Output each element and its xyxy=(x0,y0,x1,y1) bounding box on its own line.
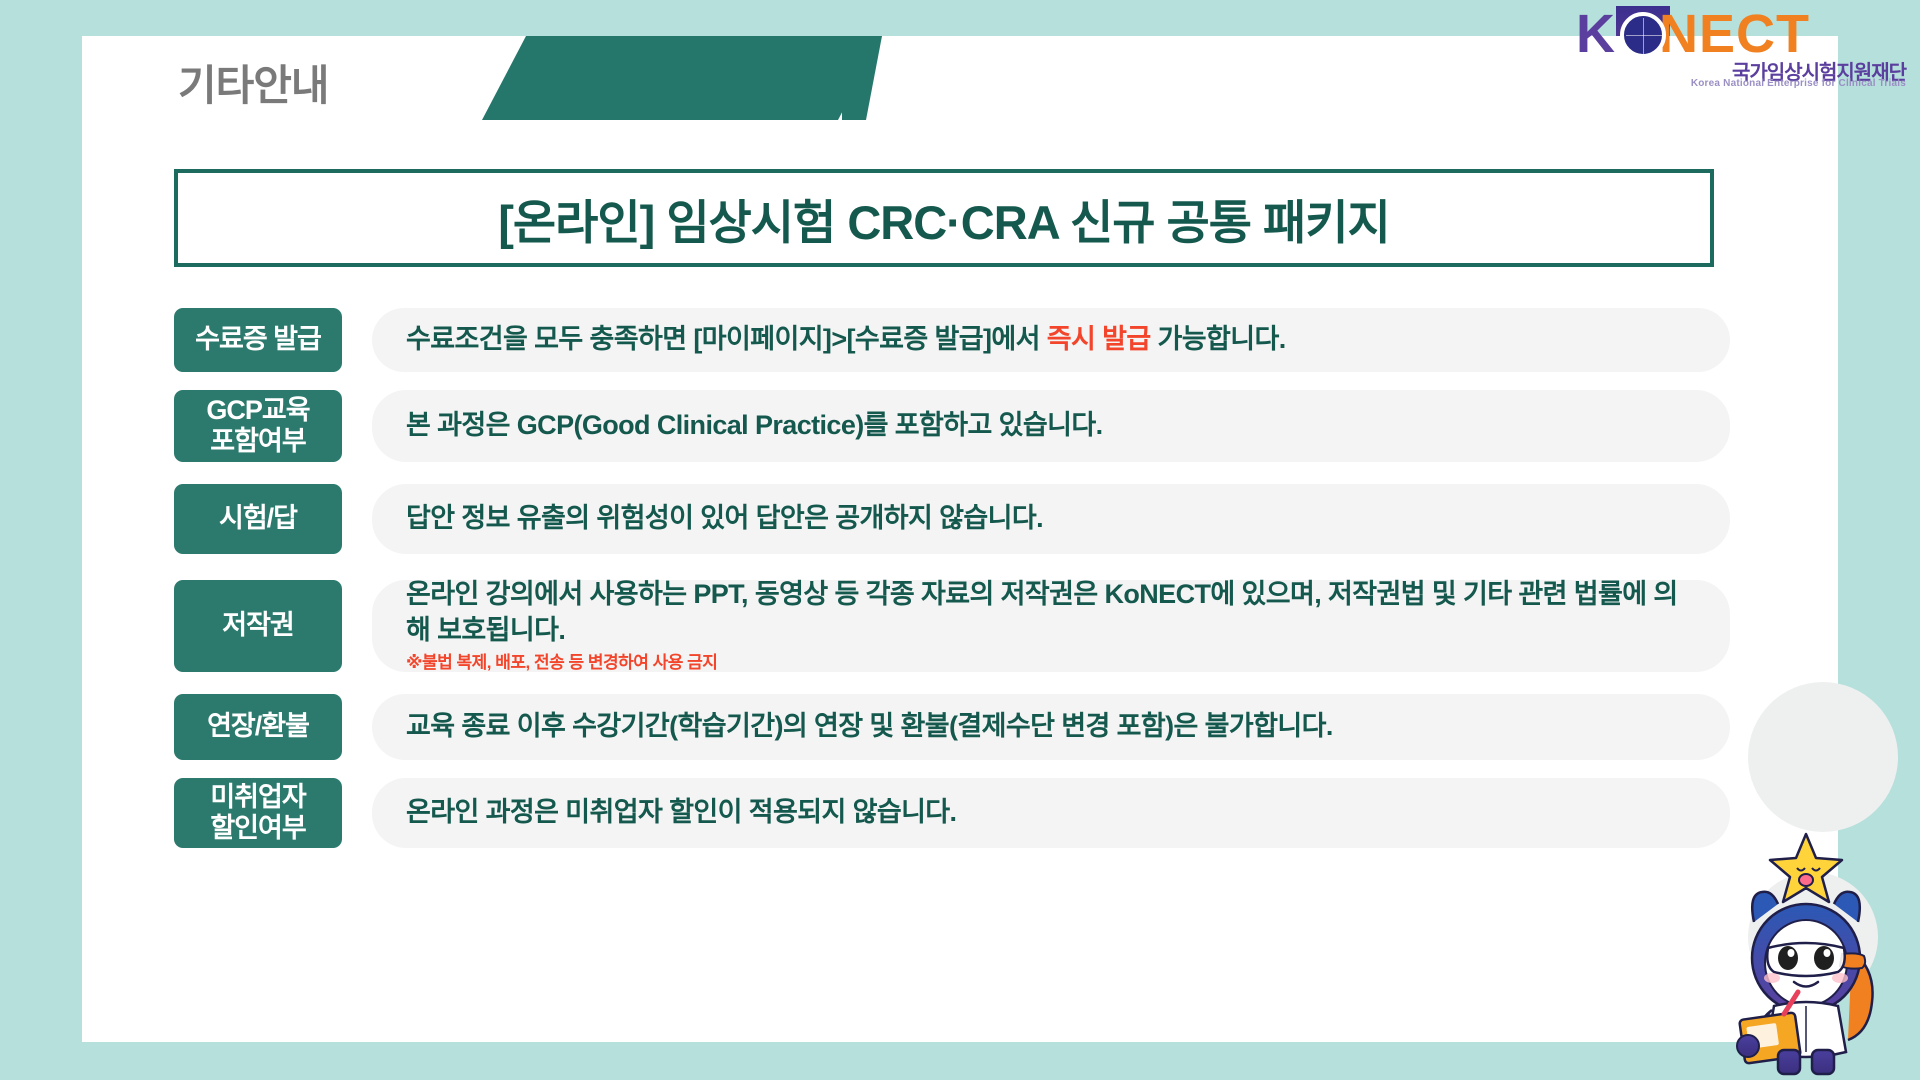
row-content-discount: 온라인 과정은 미취업자 할인이 적용되지 않습니다. xyxy=(372,778,1730,848)
row-label-discount: 미취업자 할인여부 xyxy=(174,778,342,848)
logo-wordmark: KONECT xyxy=(1576,6,1810,62)
row-content-copyright: 온라인 강의에서 사용하는 PPT, 동영상 등 각종 자료의 저작권은 KoN… xyxy=(372,580,1730,672)
row-text: 온라인 강의에서 사용하는 PPT, 동영상 등 각종 자료의 저작권은 KoN… xyxy=(406,577,1696,648)
row-content-certificate: 수료조건을 모두 충족하면 [마이페이지]>[수료증 발급]에서 즉시 발급 가… xyxy=(372,308,1730,372)
page-title: [온라인] 임상시험 CRC·CRA 신규 공통 패키지 xyxy=(498,184,1390,253)
info-table: 수료증 발급 수료조건을 모두 충족하면 [마이페이지]>[수료증 발급]에서 … xyxy=(174,308,1730,866)
table-row: 시험/답 답안 정보 유출의 위험성이 있어 답안은 공개하지 않습니다. xyxy=(174,484,1730,554)
row-text: 답안 정보 유출의 위험성이 있어 답안은 공개하지 않습니다. xyxy=(406,501,1696,537)
table-row: 미취업자 할인여부 온라인 과정은 미취업자 할인이 적용되지 않습니다. xyxy=(174,778,1730,848)
konect-logo: KONECT 국가임상시험지원재단 Korea National Enterpr… xyxy=(1576,6,1906,92)
content-card: 기타안내 [온라인] 임상시험 CRC·CRA 신규 공통 패키지 수료증 발급… xyxy=(82,36,1838,1042)
row-label-copyright: 저작권 xyxy=(174,580,342,672)
page-title-box: [온라인] 임상시험 CRC·CRA 신규 공통 패키지 xyxy=(174,169,1714,267)
row-label-exam: 시험/답 xyxy=(174,484,342,554)
table-row: 저작권 온라인 강의에서 사용하는 PPT, 동영상 등 각종 자료의 저작권은… xyxy=(174,580,1730,672)
row-label-refund: 연장/환불 xyxy=(174,694,342,760)
row-label-certificate: 수료증 발급 xyxy=(174,308,342,372)
table-row: GCP교육 포함여부 본 과정은 GCP(Good Clinical Pract… xyxy=(174,390,1730,462)
ribbon-tail xyxy=(842,36,882,120)
row-content-gcp: 본 과정은 GCP(Good Clinical Practice)를 포함하고 … xyxy=(372,390,1730,462)
row-text: 본 과정은 GCP(Good Clinical Practice)를 포함하고 … xyxy=(406,408,1696,444)
table-row: 연장/환불 교육 종료 이후 수강기간(학습기간)의 연장 및 환불(결제수단 … xyxy=(174,694,1730,760)
row-content-exam: 답안 정보 유출의 위험성이 있어 답안은 공개하지 않습니다. xyxy=(372,484,1730,554)
row-text-before: 수료조건을 모두 충족하면 [마이페이지]>[수료증 발급]에서 xyxy=(406,324,1047,354)
decorative-circle xyxy=(1748,682,1898,832)
row-label-gcp: GCP교육 포함여부 xyxy=(174,390,342,462)
row-text: 수료조건을 모두 충족하면 [마이페이지]>[수료증 발급]에서 즉시 발급 가… xyxy=(406,322,1696,358)
globe-icon xyxy=(1620,12,1666,58)
row-text: 온라인 과정은 미취업자 할인이 적용되지 않습니다. xyxy=(406,795,1696,831)
table-row: 수료증 발급 수료조건을 모두 충족하면 [마이페이지]>[수료증 발급]에서 … xyxy=(174,308,1730,372)
section-title: 기타안내 xyxy=(178,52,329,113)
konect-mascot xyxy=(1702,830,1912,1080)
row-text: 교육 종료 이후 수강기간(학습기간)의 연장 및 환불(결제수단 변경 포함)… xyxy=(406,709,1696,745)
logo-letter-k: K xyxy=(1576,4,1616,64)
row-text-after: 가능합니다. xyxy=(1151,324,1286,354)
logo-english-name: Korea National Enterprise for Clinical T… xyxy=(1691,78,1906,89)
row-note: ※불법 복제, 배포, 전송 등 변경하여 사용 금지 xyxy=(406,652,1696,674)
row-text-highlight: 즉시 발급 xyxy=(1047,324,1151,354)
ribbon-shape xyxy=(482,36,882,120)
logo-letters-nect: NECT xyxy=(1659,4,1810,64)
row-content-refund: 교육 종료 이후 수강기간(학습기간)의 연장 및 환불(결제수단 변경 포함)… xyxy=(372,694,1730,760)
